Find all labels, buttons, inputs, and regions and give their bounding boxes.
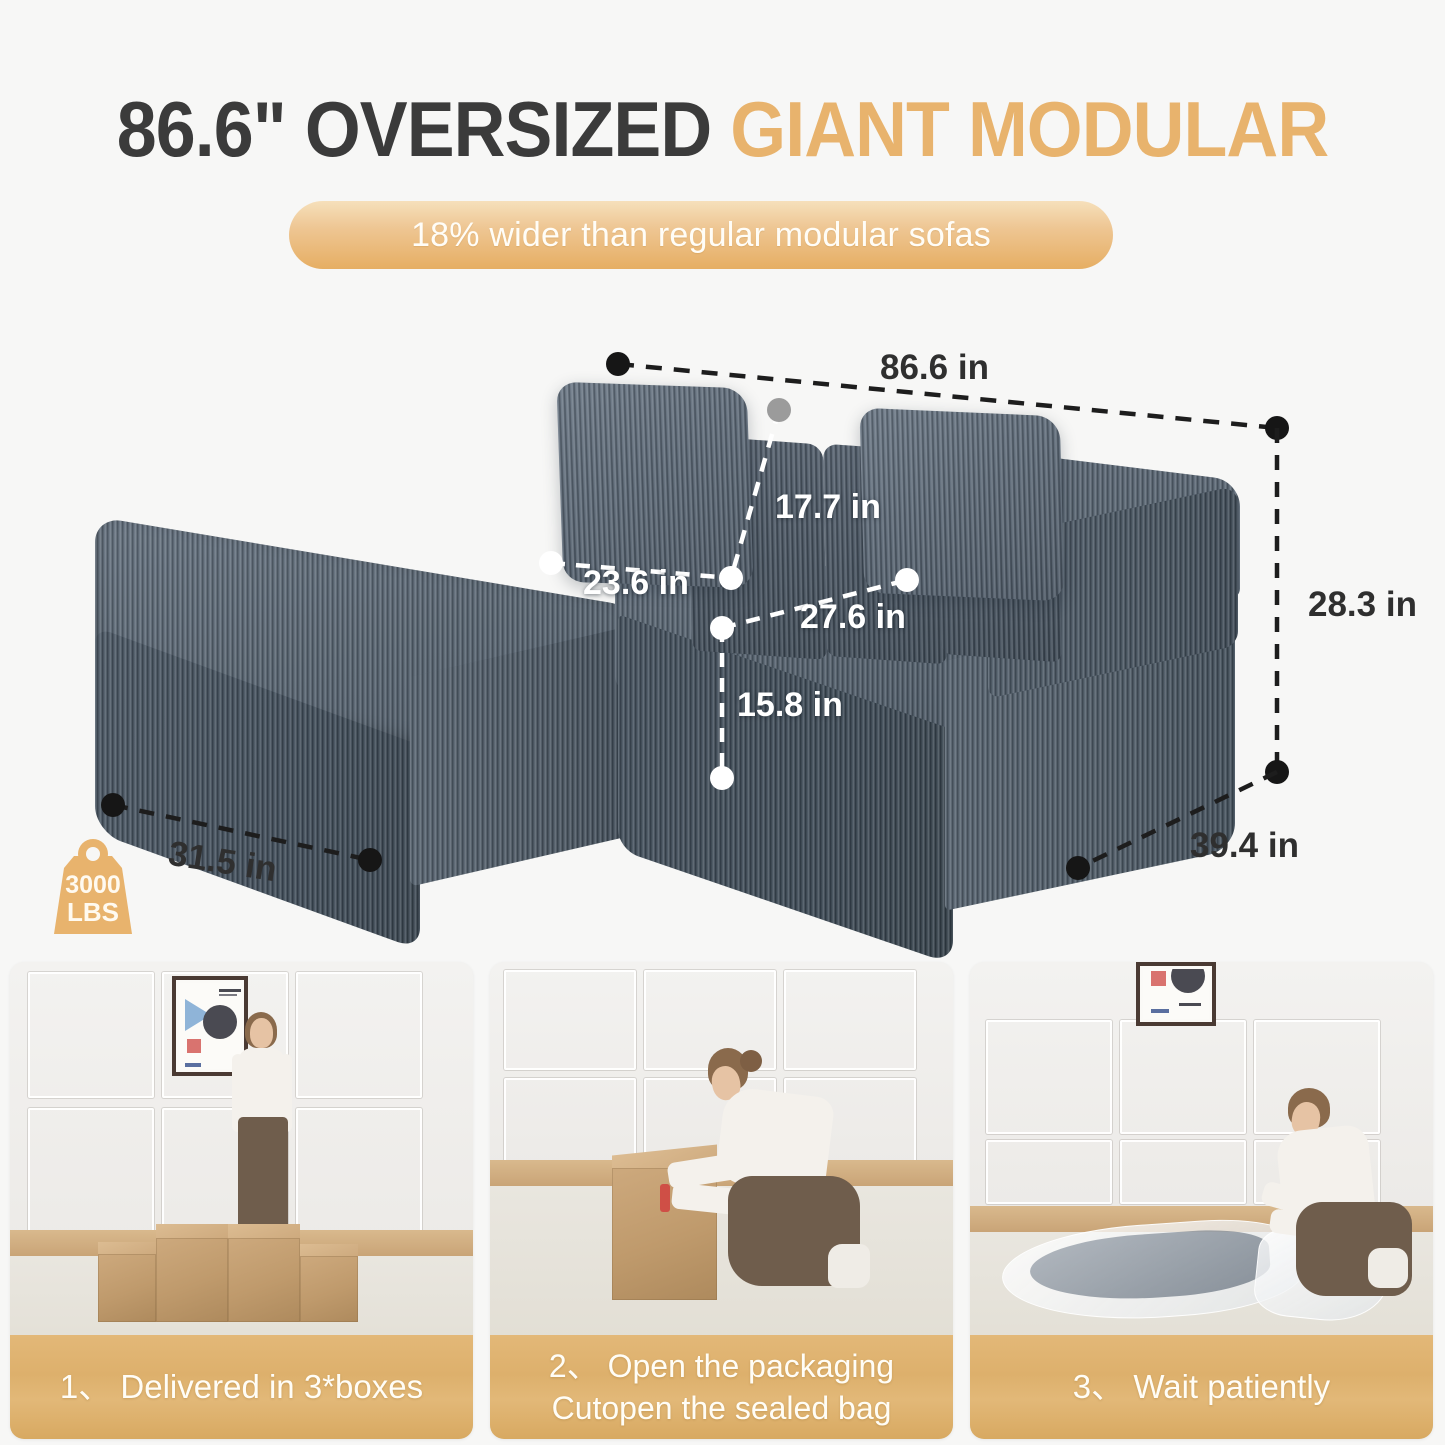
weight-badge-text: 3000 LBS [48,872,138,926]
page-title: 86.6" OVERSIZED GIANT MODULAR [58,88,1387,170]
weight-badge: 3000 LBS [48,830,138,940]
dimension-label-backrest-height: 17.7 in [775,488,881,527]
subtitle-pill: 18% wider than regular modular sofas [289,201,1113,269]
throw-pillow-left [556,382,753,589]
step-3-caption-text: 3、 Wait patiently [1065,1366,1338,1408]
dimension-label-overall-depth: 39.4 in [1190,826,1299,866]
wall-poster [1136,962,1216,1026]
delivery-box [156,1238,228,1322]
person-foot [828,1244,870,1288]
step-panel-3[interactable]: 3、 Wait patiently [970,962,1433,1439]
dimension-label-overall-width: 86.6 in [880,348,989,388]
step-3-caption: 3、 Wait patiently [970,1335,1433,1439]
step-2-caption-text: 2、 Open the packagingCutopen the sealed … [541,1345,902,1429]
step-2-caption: 2、 Open the packagingCutopen the sealed … [490,1335,953,1439]
delivery-box [300,1256,358,1322]
title-accent-part: GIANT MODULAR [730,85,1328,173]
step-panel-1[interactable]: 1、 Delivered in 3*boxes [10,962,473,1439]
throw-pillow-right [859,408,1064,602]
dimension-label-overall-height: 28.3 in [1308,585,1417,625]
header: 86.6" OVERSIZED GIANT MODULAR 18% wider … [0,0,1445,290]
steps-gallery: 1、 Delivered in 3*boxes [0,962,1445,1445]
step-panel-2[interactable]: 2、 Open the packagingCutopen the sealed … [490,962,953,1439]
subtitle-text: 18% wider than regular modular sofas [411,216,991,255]
person-legs [238,1117,288,1237]
dimension-label-seat-height: 15.8 in [737,686,843,725]
dimension-label-seat-width: 23.6 in [583,564,689,603]
step-1-caption: 1、 Delivered in 3*boxes [10,1335,473,1439]
weight-number: 3000 [48,872,138,899]
person-foot [1368,1248,1408,1288]
person-torso [238,1048,285,1120]
person-head [250,1018,273,1048]
weight-unit: LBS [48,899,138,926]
step-1-caption-text: 1、 Delivered in 3*boxes [52,1366,431,1408]
delivery-box [228,1238,300,1322]
dimension-label-seat-depth: 27.6 in [800,598,906,637]
delivery-box [98,1254,156,1322]
title-size-part: 86.6" OVERSIZED [117,85,731,173]
box-cutter [660,1184,670,1212]
